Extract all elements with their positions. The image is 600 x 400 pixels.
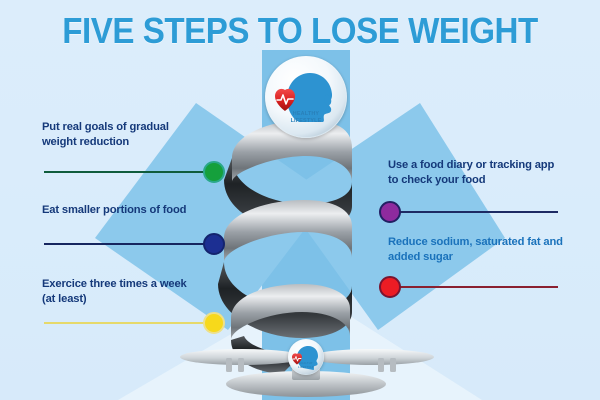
base-arm-left-post-2 [238,358,244,372]
step-label-exercise: Exercice three times a week (at least) [42,277,237,307]
step-label-food-diary-line2: to check your food [388,173,588,188]
step-label-food-diary: Use a food diary or tracking app to chec… [388,158,588,188]
base-arm-right-post-1 [378,358,384,372]
badge-label-line2: LIFESTYLE [265,119,347,125]
step-label-reduce-sodium-line2: added sugar [388,250,593,265]
spiral-turn-2-back [218,262,352,338]
page-title: FIVE STEPS TO LOSE WEIGHT [24,10,576,52]
spiral-turn-3-front [231,284,350,340]
step-label-exercise-line1: Exercice three times a week [42,277,237,292]
step-label-goals-line2: weight reduction [42,135,222,150]
connector-line-step-exercise [44,322,210,324]
connector-line-step-goals [44,171,210,173]
step-label-reduce-sodium: Reduce sodium, saturated fat and added s… [388,235,593,265]
infographic-root: FIVE STEPS TO LOSE WEIGHT [0,0,600,400]
step-dot-exercise[interactable] [203,312,225,334]
bottom-left-wedge [118,316,262,400]
base-healthy-lifestyle-badge[interactable]: HEALTHY LIFESTYLE [288,339,324,375]
step-label-portions-line1: Eat smaller portions of food [42,203,232,218]
step-label-exercise-line2: (at least) [42,292,237,307]
spiral-turn-1-back [224,158,352,232]
step-label-goals: Put real goals of gradual weight reducti… [42,120,222,150]
connector-line-step-portions [44,243,210,245]
step-label-food-diary-line1: Use a food diary or tracking app [388,158,588,173]
connector-line-step-food-diary [390,211,558,213]
step-label-reduce-sodium-line1: Reduce sodium, saturated fat and [388,235,593,250]
badge-label-line1: HEALTHY [265,112,347,118]
base-badge-label-line2: LIFESTYLE [288,367,324,370]
base-arm-right [310,349,434,365]
healthy-lifestyle-badge[interactable]: HEALTHY LIFESTYLE [265,56,347,138]
step-dot-reduce-sodium[interactable] [379,276,401,298]
step-dot-goals[interactable] [203,161,225,183]
base-badge-art [288,339,324,375]
step-label-portions: Eat smaller portions of food [42,203,232,218]
base-arm-left-post-1 [226,358,232,372]
step-dot-portions[interactable] [203,233,225,255]
base-arm-left [180,349,304,365]
base-arm-right-post-2 [390,358,396,372]
spiral-turn-2-front [224,200,352,262]
healthy-lifestyle-badge-art [265,56,347,138]
connector-line-step-reduce-sodium [390,286,558,288]
step-dot-food-diary[interactable] [379,201,401,223]
bottom-right-wedge [350,316,482,400]
step-label-goals-line1: Put real goals of gradual [42,120,222,135]
